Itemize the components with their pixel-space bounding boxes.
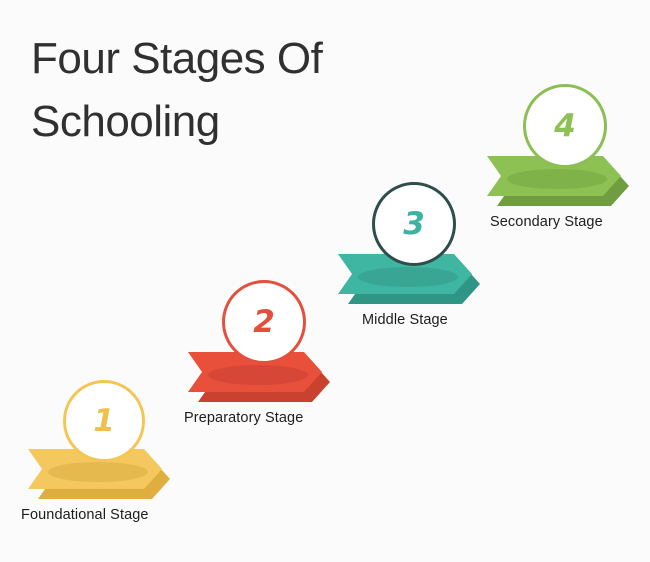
stage-number-1: 1 [93, 406, 115, 437]
stage-circle-1[interactable]: 1 [63, 380, 145, 462]
page-title: Four Stages Of Schooling [31, 27, 451, 154]
banner-ellipse-shadow [358, 267, 458, 287]
stage-label-4: Secondary Stage [490, 214, 603, 230]
banner-ellipse-shadow [208, 365, 308, 385]
stage-circle-2[interactable]: 2 [222, 280, 306, 364]
banner-ellipse-shadow [48, 462, 148, 482]
infographic-canvas: Four Stages Of Schooling 1 Foundational … [0, 0, 650, 562]
stage-circle-3[interactable]: 3 [372, 182, 456, 266]
stage-number-2: 2 [253, 307, 275, 338]
stage-number-4: 4 [554, 111, 576, 142]
stage-label-1: Foundational Stage [21, 507, 149, 523]
banner-ellipse-shadow [507, 169, 607, 189]
stage-label-3: Middle Stage [362, 312, 448, 328]
stage-label-2: Preparatory Stage [184, 410, 303, 426]
stage-number-3: 3 [403, 209, 425, 240]
stage-circle-4[interactable]: 4 [523, 84, 607, 168]
